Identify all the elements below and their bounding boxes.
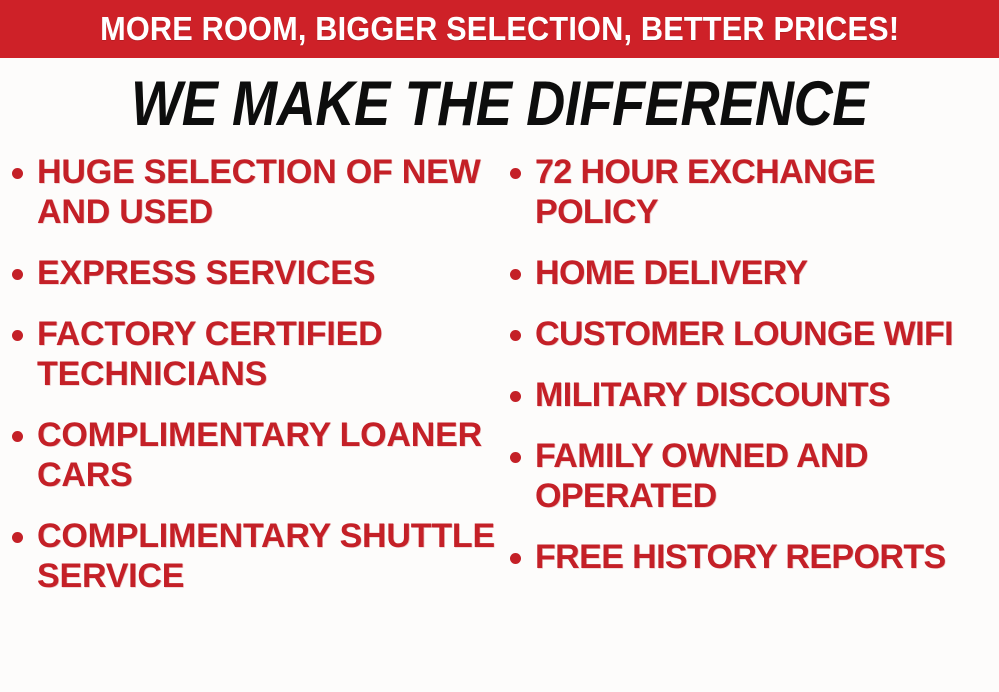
- features-columns: HUGE SELECTION OF NEW AND USEDEXPRESS SE…: [0, 152, 999, 692]
- page-title: WE MAKE THE DIFFERENCE: [131, 72, 868, 136]
- bullet-dot-icon: [510, 452, 521, 463]
- bullet-dot-icon: [510, 553, 521, 564]
- bullet-dot-icon: [12, 269, 23, 280]
- feature-item: HUGE SELECTION OF NEW AND USED: [12, 152, 498, 232]
- feature-item-label: COMPLIMENTARY SHUTTLE SERVICE: [37, 516, 498, 596]
- feature-item: EXPRESS SERVICES: [12, 253, 498, 293]
- feature-item-label: 72 HOUR EXCHANGE POLICY: [535, 152, 999, 232]
- bullet-dot-icon: [510, 168, 521, 179]
- feature-item-label: FREE HISTORY REPORTS: [535, 537, 946, 577]
- bullet-dot-icon: [12, 330, 23, 341]
- feature-item-label: EXPRESS SERVICES: [37, 253, 375, 293]
- promo-banner: MORE ROOM, BIGGER SELECTION, BETTER PRIC…: [0, 0, 999, 58]
- promo-banner-text: MORE ROOM, BIGGER SELECTION, BETTER PRIC…: [100, 12, 899, 46]
- feature-item-label: MILITARY DISCOUNTS: [535, 375, 890, 415]
- feature-item-label: COMPLIMENTARY LOANER CARS: [37, 415, 498, 495]
- feature-item: FAMILY OWNED AND OPERATED: [510, 436, 999, 516]
- dealership-benefits-poster: MORE ROOM, BIGGER SELECTION, BETTER PRIC…: [0, 0, 999, 692]
- feature-item: HOME DELIVERY: [510, 253, 999, 293]
- features-left-column: HUGE SELECTION OF NEW AND USEDEXPRESS SE…: [12, 152, 498, 692]
- bullet-dot-icon: [510, 391, 521, 402]
- feature-item: MILITARY DISCOUNTS: [510, 375, 999, 415]
- feature-item: COMPLIMENTARY LOANER CARS: [12, 415, 498, 495]
- headline-container: WE MAKE THE DIFFERENCE: [0, 68, 999, 140]
- feature-item-label: HOME DELIVERY: [535, 253, 807, 293]
- bullet-dot-icon: [510, 330, 521, 341]
- features-right-column: 72 HOUR EXCHANGE POLICYHOME DELIVERYCUST…: [510, 152, 999, 692]
- feature-item-label: HUGE SELECTION OF NEW AND USED: [37, 152, 498, 232]
- feature-item: COMPLIMENTARY SHUTTLE SERVICE: [12, 516, 498, 596]
- feature-item-label: FACTORY CERTIFIED TECHNICIANS: [37, 314, 498, 394]
- feature-item: FACTORY CERTIFIED TECHNICIANS: [12, 314, 498, 394]
- feature-item: FREE HISTORY REPORTS: [510, 537, 999, 577]
- bullet-dot-icon: [12, 431, 23, 442]
- bullet-dot-icon: [12, 532, 23, 543]
- bullet-dot-icon: [12, 168, 23, 179]
- feature-item: CUSTOMER LOUNGE WIFI: [510, 314, 999, 354]
- bullet-dot-icon: [510, 269, 521, 280]
- feature-item-label: CUSTOMER LOUNGE WIFI: [535, 314, 953, 354]
- feature-item: 72 HOUR EXCHANGE POLICY: [510, 152, 999, 232]
- feature-item-label: FAMILY OWNED AND OPERATED: [535, 436, 999, 516]
